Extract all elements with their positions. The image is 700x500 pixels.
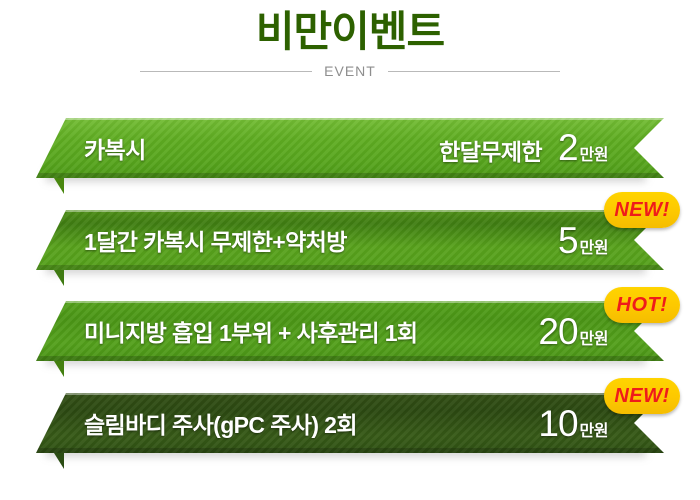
price-unit: 만원 bbox=[580, 417, 608, 441]
price-amount: 10 bbox=[538, 405, 577, 442]
price-unit: 만원 bbox=[580, 325, 608, 349]
event-label: 슬림바디 주사(gPC 주사) 2회 bbox=[84, 406, 357, 440]
ribbon-content: 1달간 카복시 무제한+약처방 5 만원 bbox=[36, 210, 664, 270]
ribbon-content: 미니지방 흡입 1부위 + 사후관리 1회 20 만원 bbox=[36, 301, 664, 361]
event-item-3[interactable]: 미니지방 흡입 1부위 + 사후관리 1회 20 만원 bbox=[0, 293, 700, 385]
event-note: 한달무제한 bbox=[439, 133, 542, 167]
ribbon-content: 슬림바디 주사(gPC 주사) 2회 10 만원 bbox=[36, 393, 664, 453]
price-amount: 2 bbox=[558, 129, 578, 166]
price-unit: 만원 bbox=[580, 141, 608, 165]
event-item-1[interactable]: 카복시 한달무제한 2 만원 bbox=[0, 110, 700, 202]
event-label: 미니지방 흡입 1부위 + 사후관리 1회 bbox=[84, 314, 417, 348]
price-block: 10 만원 bbox=[522, 405, 608, 442]
event-label: 1달간 카복시 무제한+약처방 bbox=[84, 223, 347, 257]
price-block: 한달무제한 2 만원 bbox=[439, 129, 608, 167]
price-amount: 20 bbox=[538, 313, 577, 350]
event-item-2[interactable]: 1달간 카복시 무제한+약처방 5 만원 bbox=[0, 202, 700, 294]
badge-new-item4: NEW! bbox=[604, 378, 680, 414]
price-amount: 5 bbox=[558, 222, 578, 259]
ribbon-content: 카복시 한달무제한 2 만원 bbox=[36, 118, 664, 178]
event-label: 카복시 bbox=[84, 131, 146, 165]
price-block: 5 만원 bbox=[542, 222, 608, 259]
event-list: 카복시 한달무제한 2 만원 1달간 카복시 무제한+약처방 5 만원 미니지방… bbox=[0, 0, 700, 500]
badge-new-item2: NEW! bbox=[604, 192, 680, 228]
badge-hot-item3: HOT! bbox=[604, 287, 680, 323]
price-block: 20 만원 bbox=[522, 313, 608, 350]
price-unit: 만원 bbox=[580, 234, 608, 258]
event-item-4[interactable]: 슬림바디 주사(gPC 주사) 2회 10 만원 bbox=[0, 385, 700, 477]
